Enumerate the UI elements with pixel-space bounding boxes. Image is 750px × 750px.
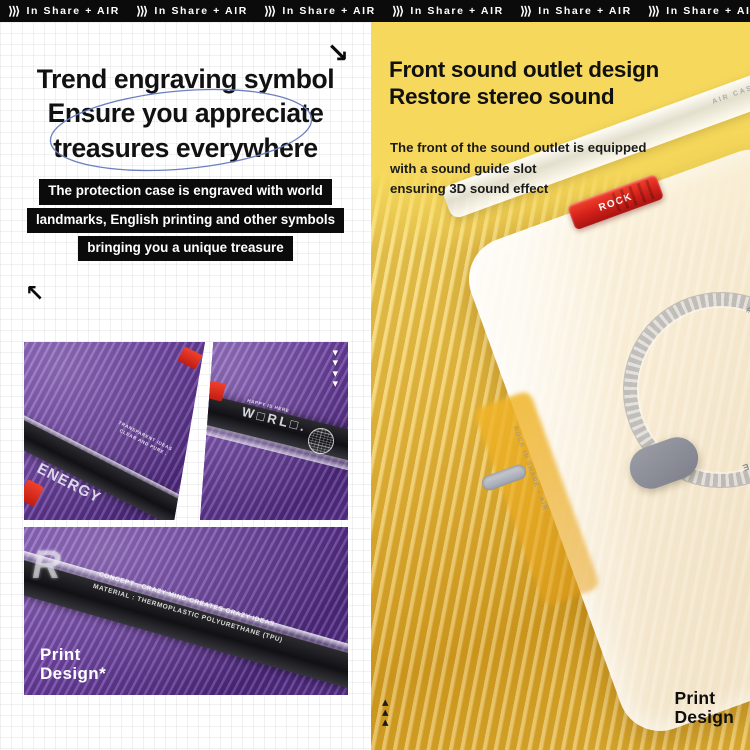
chevron-right-icon: ⟩⟩⟩ [518, 4, 538, 18]
headline-line: Restore stereo sound [389, 83, 659, 110]
caption-line: Design [674, 707, 734, 727]
product-photo-energy: TRANSPARENT IDEAS CLEAR AND PURE . ENERG… [24, 342, 205, 520]
photo-row-top: TRANSPARENT IDEAS CLEAR AND PURE . ENERG… [24, 342, 348, 520]
subtext-line: The protection case is engraved with wor… [39, 179, 332, 204]
headline-line: Front sound outlet design [389, 56, 659, 83]
body-line: ensuring 3D sound effect [390, 179, 646, 200]
right-page-title: Front sound outlet design Restore stereo… [389, 56, 659, 111]
product-photo-collage: TRANSPARENT IDEAS CLEAR AND PURE . ENERG… [24, 342, 348, 695]
chevron-up-stack-icon: ▴ ▴ ▴ [382, 698, 389, 728]
photo-caption: Print Design* [40, 645, 106, 683]
headline-line: treasures everywhere [14, 131, 357, 165]
left-subtext-block: The protection case is engraved with wor… [14, 179, 357, 264]
caption-line: Design* [40, 664, 106, 683]
caption-line: Print [674, 688, 715, 708]
page-title: Trend engraving symbol Ensure you apprec… [14, 62, 357, 165]
subtext-line: landmarks, English printing and other sy… [27, 208, 344, 233]
product-marketing-page: ↘ Trend engraving symbol Ensure you appr… [0, 0, 750, 750]
top-marquee-banner: ⟩⟩⟩In Share + AIR⟩⟩⟩In Share + AIR⟩⟩⟩In … [0, 0, 750, 22]
body-line: The front of the sound outlet is equippe… [390, 138, 646, 159]
right-photo-caption: Print Design [674, 689, 734, 728]
marquee-text: In Share + AIR [26, 5, 134, 17]
chevron-right-icon: ⟩⟩⟩ [646, 4, 666, 18]
caption-line: Print [40, 645, 81, 664]
clear-case-product-photo: #DEEPLY IN SHARE ROCK IN SHARE + AIR AIR… [371, 0, 750, 750]
marquee-text: In Share + AIR [154, 5, 262, 17]
rail-etch-text: AIR CASE [711, 82, 750, 105]
magsafe-text-char: # [745, 304, 750, 316]
subtext-line: bringing you a unique treasure [78, 236, 292, 261]
chevron-right-icon: ⟩⟩⟩ [134, 4, 154, 18]
marquee-text: In Share + AIR [282, 5, 390, 17]
chevron-right-icon: ⟩⟩⟩ [6, 4, 26, 18]
left-headline-block: Trend engraving symbol Ensure you apprec… [0, 62, 371, 264]
headline-line: Trend engraving symbol [14, 62, 357, 96]
chevron-down-stack-icon: ▾ ▾ ▾ ▾ [332, 348, 338, 388]
left-panel: ↘ Trend engraving symbol Ensure you appr… [0, 0, 371, 750]
headline-line: Ensure you appreciate [14, 96, 357, 130]
marquee-text: In Share + AIR [410, 5, 518, 17]
right-body-text: The front of the sound outlet is equippe… [390, 138, 646, 200]
chevron-right-icon: ⟩⟩⟩ [390, 4, 410, 18]
body-line: with a sound guide slot [390, 159, 646, 180]
marquee-text: In Share + AIR [666, 5, 750, 17]
product-photo-material: R CONCEPT : CRAZY MIND CREATES CRAZY IDE… [24, 527, 348, 695]
marquee-text: In Share + AIR [538, 5, 646, 17]
chevron-up-icon: ▴ [382, 718, 389, 728]
chevron-down-icon: ▾ [332, 379, 338, 388]
marquee-content: ⟩⟩⟩In Share + AIR⟩⟩⟩In Share + AIR⟩⟩⟩In … [0, 4, 750, 18]
rock-logo-r: R [32, 543, 59, 588]
right-panel: #DEEPLY IN SHARE ROCK IN SHARE + AIR AIR… [371, 0, 750, 750]
product-photo-world: HAPPY IS HERE W□RL□. ▾ ▾ ▾ ▾ [200, 342, 348, 520]
magsafe-text-char: E [739, 462, 750, 474]
chevron-right-icon: ⟩⟩⟩ [262, 4, 282, 18]
arrow-up-left-icon: ↖ [25, 283, 44, 306]
